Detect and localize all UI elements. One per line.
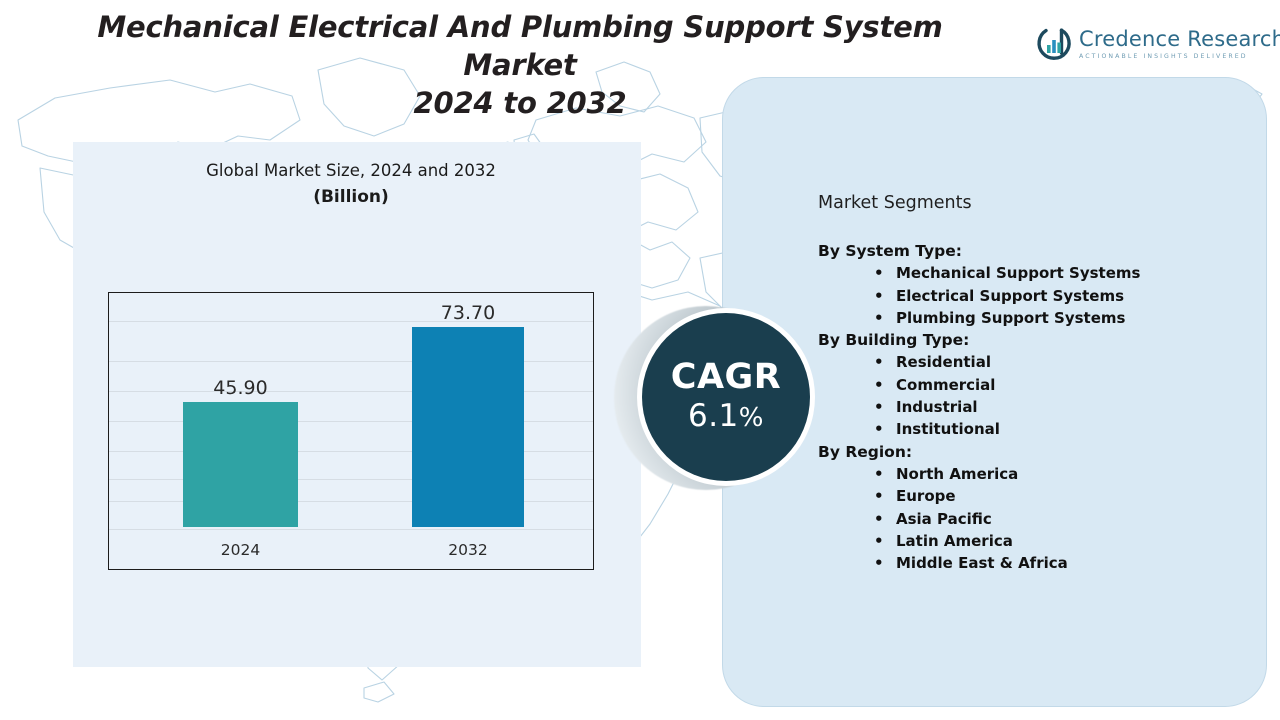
segment-group-heading: By System Type: xyxy=(818,240,1248,262)
segment-item: •Asia Pacific xyxy=(818,508,1248,530)
bullet-icon: • xyxy=(818,351,896,373)
bullet-icon: • xyxy=(818,262,896,284)
segment-item: •Europe xyxy=(818,485,1248,507)
segment-item-label: Plumbing Support Systems xyxy=(896,307,1125,329)
bar-chart: 45.90 73.70 2024 2032 xyxy=(108,292,594,570)
segment-item-label: Middle East & Africa xyxy=(896,552,1068,574)
credence-research-logo[interactable]: Credence Research Actionable Insights De… xyxy=(1036,26,1280,62)
cagr-percent-symbol: % xyxy=(739,403,764,433)
bar-2032[interactable]: 73.70 xyxy=(412,327,524,527)
segment-group-heading: By Building Type: xyxy=(818,329,1248,351)
bullet-icon: • xyxy=(818,530,896,552)
bullet-icon: • xyxy=(818,285,896,307)
bullet-icon: • xyxy=(818,307,896,329)
bullet-icon: • xyxy=(818,374,896,396)
segment-item: •Electrical Support Systems xyxy=(818,285,1248,307)
segment-item: •North America xyxy=(818,463,1248,485)
bar-2024[interactable]: 45.90 xyxy=(183,402,298,527)
bullet-icon: • xyxy=(818,485,896,507)
bullet-icon: • xyxy=(818,552,896,574)
segment-item-label: Institutional xyxy=(896,418,1000,440)
page-title-line-1: Mechanical Electrical And Plumbing Suppo… xyxy=(97,10,942,82)
bar-value-2024: 45.90 xyxy=(213,377,267,399)
segment-item-label: North America xyxy=(896,463,1018,485)
segment-item-label: Asia Pacific xyxy=(896,508,992,530)
market-segments-list: By System Type:•Mechanical Support Syste… xyxy=(818,240,1248,574)
segment-item: •Commercial xyxy=(818,374,1248,396)
cagr-label: CAGR xyxy=(671,357,781,397)
bar-value-2032: 73.70 xyxy=(441,302,495,324)
page-title: Mechanical Electrical And Plumbing Suppo… xyxy=(40,8,1000,122)
segment-item-label: Industrial xyxy=(896,396,978,418)
segment-item-label: Commercial xyxy=(896,374,995,396)
segment-item: •Industrial xyxy=(818,396,1248,418)
cagr-number: 6.1 xyxy=(688,398,739,434)
x-axis-label-2024: 2024 xyxy=(183,541,298,559)
logo-text: Credence Research Actionable Insights De… xyxy=(1079,28,1280,61)
bullet-icon: • xyxy=(818,396,896,418)
cagr-badge: CAGR 6.1% xyxy=(614,302,822,510)
logo-name: Credence Research xyxy=(1079,28,1280,51)
x-axis-label-2032: 2032 xyxy=(412,541,524,559)
infographic-page: Mechanical Electrical And Plumbing Suppo… xyxy=(0,0,1280,720)
segment-item-label: Europe xyxy=(896,485,956,507)
logo-tagline: Actionable Insights Delivered xyxy=(1079,52,1280,61)
bar-fill-2024 xyxy=(183,402,298,527)
segment-item-label: Electrical Support Systems xyxy=(896,285,1124,307)
segment-item-label: Mechanical Support Systems xyxy=(896,262,1140,284)
chart-heading: Global Market Size, 2024 and 2032 (Billi… xyxy=(108,158,594,210)
segment-item: •Mechanical Support Systems xyxy=(818,262,1248,284)
segment-item: •Plumbing Support Systems xyxy=(818,307,1248,329)
segment-item: •Latin America xyxy=(818,530,1248,552)
segment-item-label: Residential xyxy=(896,351,991,373)
bullet-icon: • xyxy=(818,463,896,485)
page-title-line-2: 2024 to 2032 xyxy=(40,84,1000,122)
chart-title: Global Market Size, 2024 and 2032 xyxy=(108,158,594,184)
segment-item-label: Latin America xyxy=(896,530,1013,552)
cagr-value: 6.1% xyxy=(688,397,764,437)
market-segments-heading: Market Segments xyxy=(818,193,972,213)
segment-item: •Middle East & Africa xyxy=(818,552,1248,574)
bar-chart-circle-icon xyxy=(1036,26,1072,62)
bullet-icon: • xyxy=(818,508,896,530)
cagr-circle: CAGR 6.1% xyxy=(642,313,810,481)
chart-subtitle: (Billion) xyxy=(108,184,594,210)
bar-fill-2032 xyxy=(412,327,524,527)
bullet-icon: • xyxy=(818,418,896,440)
segment-group-heading: By Region: xyxy=(818,441,1248,463)
chart-plot-area: 45.90 73.70 2024 2032 xyxy=(109,293,593,569)
segment-item: •Institutional xyxy=(818,418,1248,440)
segment-item: •Residential xyxy=(818,351,1248,373)
